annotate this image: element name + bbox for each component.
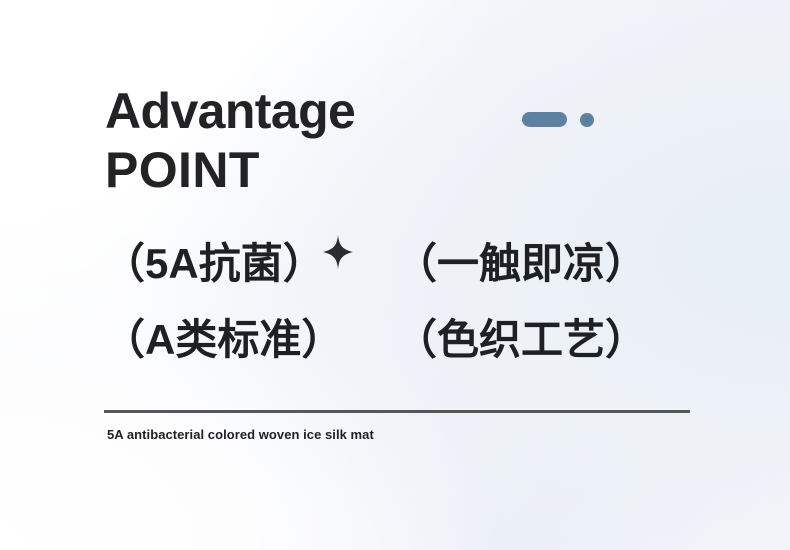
page-title: Advantage POINT (105, 82, 355, 200)
feature-label: （一触即凉） (395, 233, 647, 295)
feature-label: （5A抗菌） (103, 233, 325, 295)
feature-label: （色织工艺） (395, 309, 647, 371)
capsule-bar-icon (522, 112, 567, 127)
feature-item-instant-cool: （一触即凉） (395, 233, 695, 295)
feature-row: （5A抗菌） （一触即凉） (103, 233, 703, 309)
advantage-point-poster: Advantage POINT （5A抗菌） （一触即凉） （A类标准） (0, 0, 790, 550)
feature-label: （A类标准） (103, 309, 343, 371)
feature-item-class-a-standard: （A类标准） (103, 309, 395, 371)
headline-line-point: POINT (105, 141, 355, 200)
feature-row: （A类标准） （色织工艺） (103, 309, 703, 385)
divider (104, 410, 690, 413)
decoration-group (522, 112, 594, 127)
feature-item-yarn-dyed-craft: （色织工艺） (395, 309, 695, 371)
feature-grid: （5A抗菌） （一触即凉） （A类标准） （色织工艺） (103, 233, 703, 385)
sparkle-icon (323, 235, 353, 269)
feature-item-antibacterial: （5A抗菌） (103, 233, 395, 295)
dot-icon (580, 113, 594, 127)
caption-text: 5A antibacterial colored woven ice silk … (107, 427, 374, 442)
headline-line-advantage: Advantage (105, 82, 355, 141)
